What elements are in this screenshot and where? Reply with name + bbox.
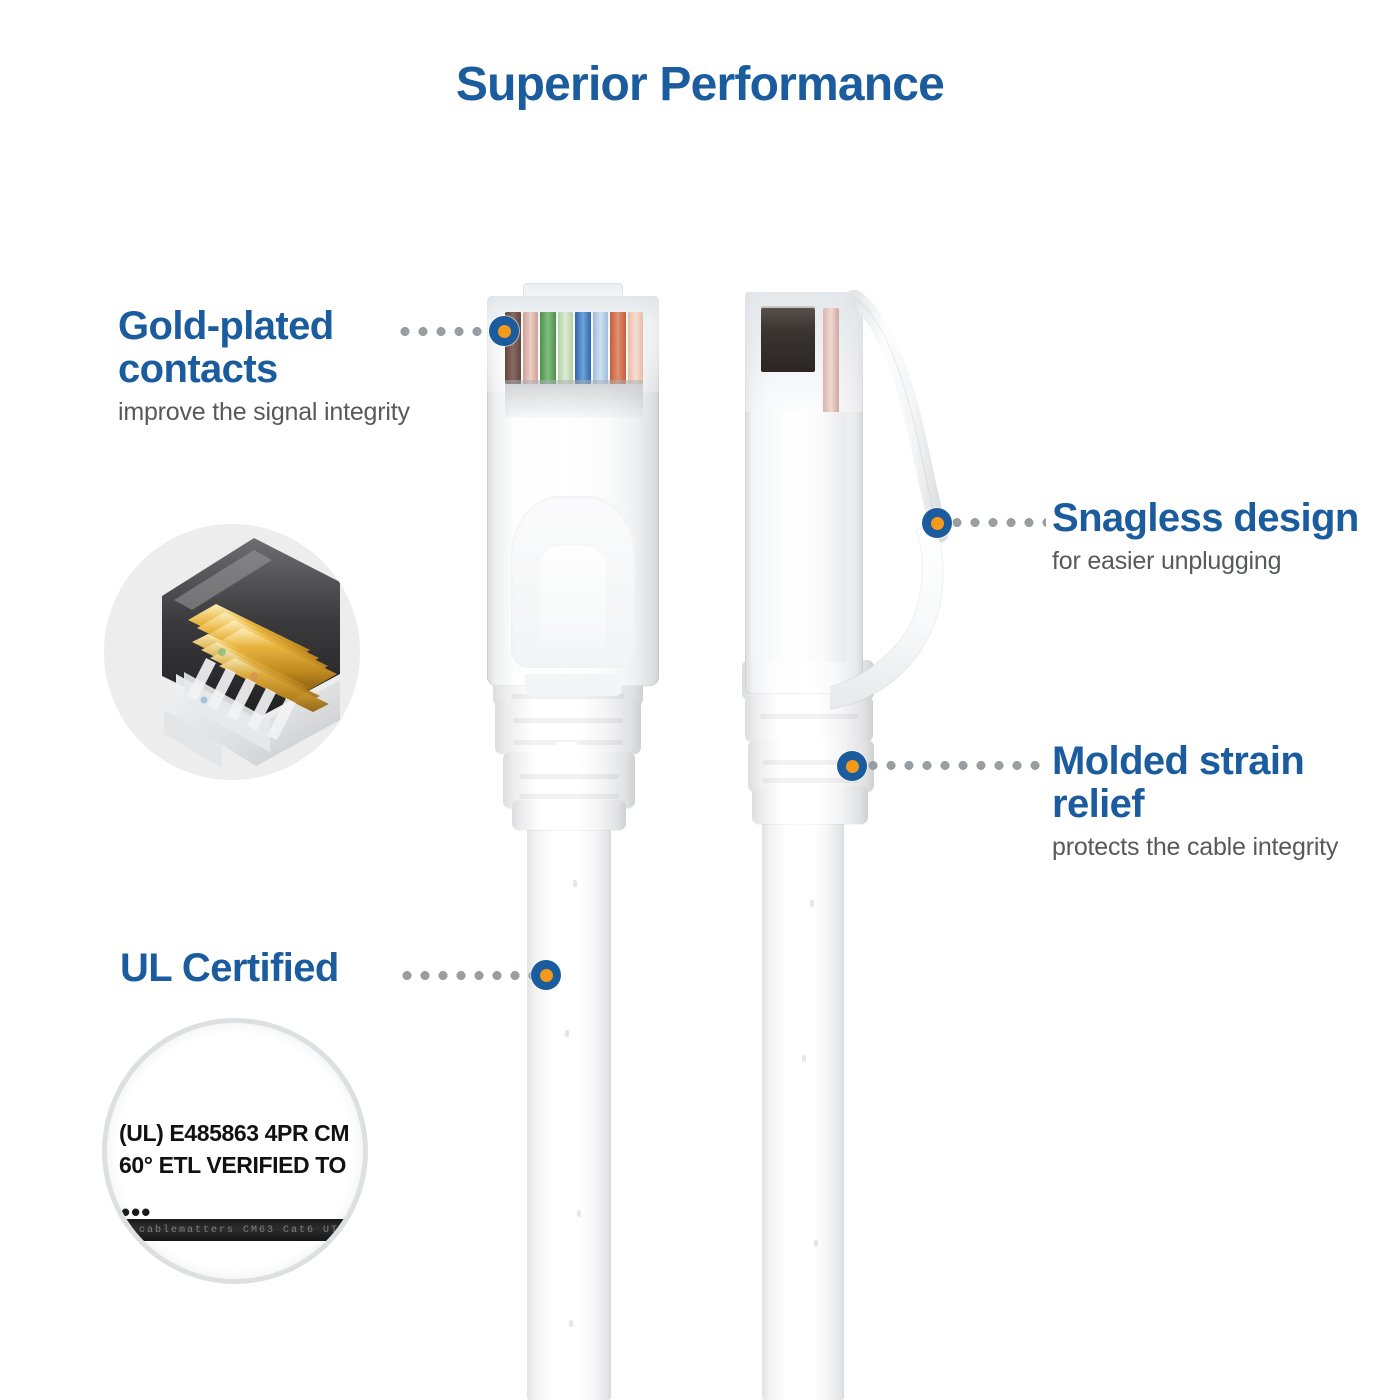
cable-print-text: (UL) cablematters CM63 Cat6 UTP 4P — [107, 1219, 363, 1241]
gold-contacts-magnifier — [104, 524, 360, 780]
rj45-contacts-closeup-image — [104, 524, 360, 780]
plug-port-opening — [761, 308, 815, 372]
leader-line-molded — [864, 761, 1046, 770]
callout-subtext: for easier unplugging — [1052, 547, 1372, 577]
ul-certification-magnifier: (UL) E485863 4PR CM 60° ETL VERIFIED TO … — [102, 1018, 368, 1284]
snagless-latch-guard — [830, 290, 990, 740]
callout-heading: UL Certified — [120, 947, 420, 990]
plug-foot — [525, 674, 621, 696]
callout-gold-plated-contacts: Gold-plated contacts improve the signal … — [118, 305, 418, 428]
plug-latch-inner — [539, 544, 607, 648]
cable-print-strip: (UL) cablematters CM63 Cat6 UTP 4P — [107, 1219, 363, 1241]
callout-subtext: protects the cable integrity — [1052, 833, 1382, 863]
callout-marker-gold-plated[interactable] — [489, 316, 519, 346]
callout-marker-molded[interactable] — [837, 751, 867, 781]
callout-snagless-design: Snagless design for easier unplugging — [1052, 497, 1372, 577]
callout-ul-certified: UL Certified — [120, 947, 420, 990]
callout-heading: Molded strain relief — [1052, 740, 1382, 826]
cable-right — [762, 820, 844, 1400]
leader-line-ul-certified — [398, 971, 546, 980]
rj45-plug-front — [487, 296, 659, 686]
infographic-canvas: Superior Performance — [0, 0, 1400, 1400]
ul-marking-line-2: 60° ETL VERIFIED TO — [119, 1151, 355, 1180]
callout-molded-strain-relief: Molded strain relief protects the cable … — [1052, 740, 1382, 863]
callout-marker-snagless[interactable] — [922, 508, 952, 538]
leader-line-snagless — [948, 518, 1046, 527]
callout-heading: Snagless design — [1052, 497, 1372, 540]
callout-marker-ul-certified[interactable] — [531, 960, 561, 990]
page-title: Superior Performance — [0, 57, 1400, 112]
twisted-pair-wires — [505, 312, 643, 384]
callout-subtext: improve the signal integrity — [118, 398, 418, 428]
cable-left — [527, 820, 611, 1400]
ul-marking-line-1: (UL) E485863 4PR CM — [119, 1119, 355, 1148]
callout-heading: Gold-plated contacts — [118, 305, 418, 391]
plug-wire-shadow — [505, 380, 643, 418]
